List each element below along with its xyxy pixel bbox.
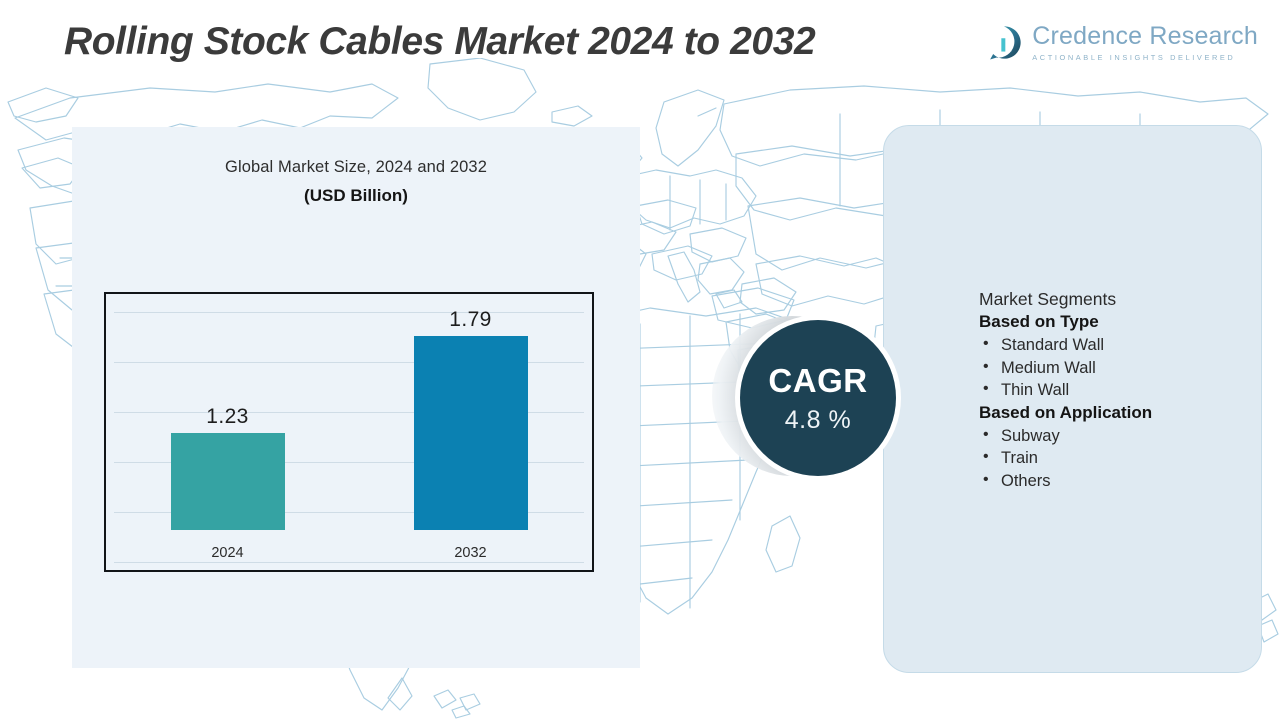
list-item: Standard Wall: [979, 334, 1259, 357]
bar-value-label-2032: 1.79: [391, 308, 551, 332]
segment-group-type: Based on Type Standard Wall Medium Wall …: [979, 311, 1259, 402]
brand-tagline: Actionable Insights Delivered: [1032, 54, 1258, 61]
bar-2032: [414, 336, 528, 530]
segments-title: Market Segments: [979, 288, 1259, 311]
segment-list-application: Subway Train Others: [979, 425, 1259, 493]
segment-list-type: Standard Wall Medium Wall Thin Wall: [979, 334, 1259, 402]
bar-value-label-2024: 1.23: [148, 405, 308, 429]
list-item: Thin Wall: [979, 379, 1259, 402]
page-title: Rolling Stock Cables Market 2024 to 2032: [64, 20, 815, 64]
segment-group-application-heading: Based on Application: [979, 402, 1259, 425]
brand-logo: Credence Research Actionable Insights De…: [985, 24, 1258, 62]
list-item: Subway: [979, 425, 1259, 448]
chart-heading: Global Market Size, 2024 and 2032 (USD B…: [72, 158, 640, 206]
cagr-circle: CAGR 4.8 %: [740, 320, 896, 476]
brand-name: Credence Research: [1032, 24, 1258, 49]
list-item: Train: [979, 447, 1259, 470]
cagr-label: CAGR: [768, 364, 867, 397]
bar-chart-plot: 1.2320241.792032: [104, 292, 594, 572]
chart-heading-line1: Global Market Size, 2024 and 2032: [72, 158, 640, 177]
chart-heading-line2: (USD Billion): [72, 186, 640, 206]
category-label-2032: 2032: [391, 545, 551, 561]
gridline: [114, 562, 584, 563]
category-label-2024: 2024: [148, 545, 308, 561]
market-segments: Market Segments Based on Type Standard W…: [979, 288, 1259, 493]
list-item: Others: [979, 470, 1259, 493]
cagr-value: 4.8 %: [785, 408, 851, 433]
list-item: Medium Wall: [979, 357, 1259, 380]
segment-group-application: Based on Application Subway Train Others: [979, 402, 1259, 493]
bar-chart-bubble-icon: [985, 24, 1023, 62]
cagr-badge: CAGR 4.8 %: [712, 316, 912, 484]
bar-2024: [171, 433, 285, 530]
segment-group-type-heading: Based on Type: [979, 311, 1259, 334]
